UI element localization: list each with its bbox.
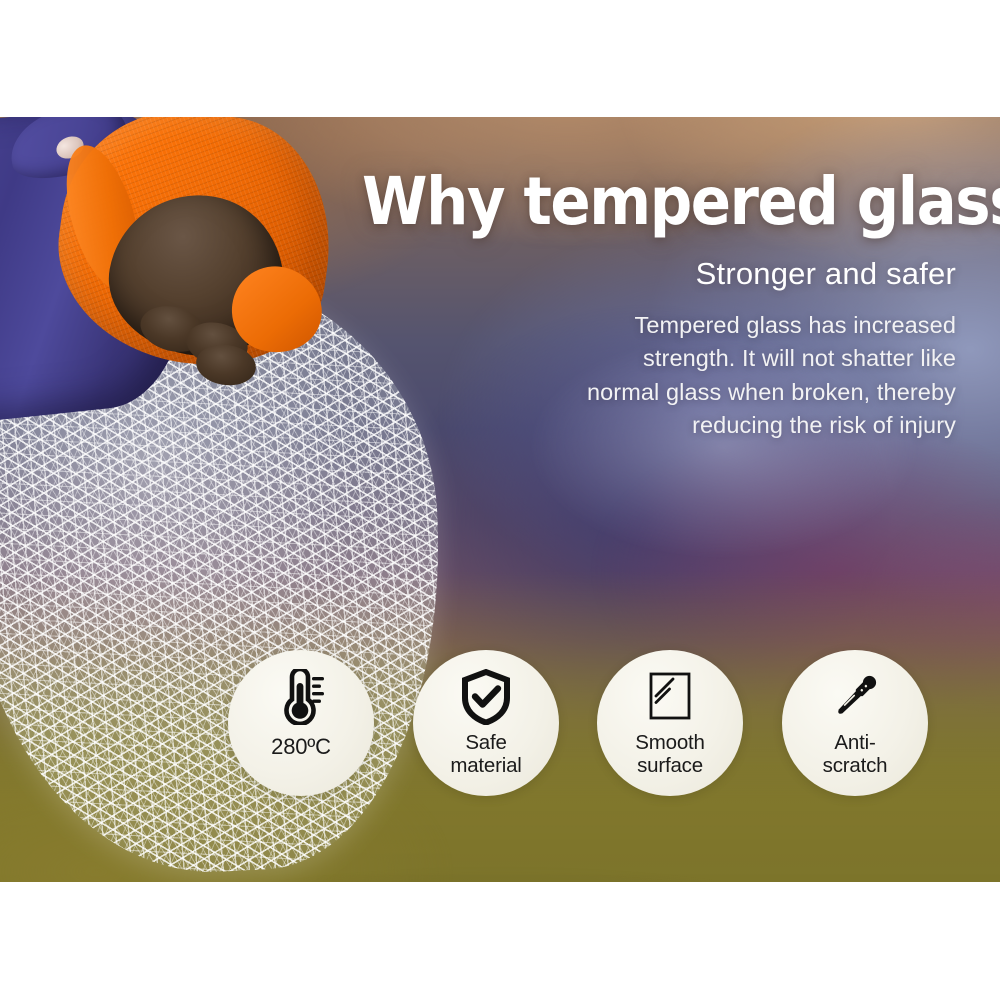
badge-label-line-1: Anti- — [834, 731, 875, 754]
feature-badge-anti-scratch: Anti- scratch — [782, 650, 928, 796]
badge-label-line-1: 280ºC — [271, 734, 331, 759]
body-line-3: normal glass when broken, thereby — [296, 376, 956, 409]
feature-badge-row: 280ºC Safe material — [0, 650, 1000, 825]
feature-badge-temperature: 280ºC — [228, 650, 374, 796]
product-photo-band: Why tempered glass? Stronger and safer T… — [0, 117, 1000, 882]
badge-label-line-2: material — [450, 754, 521, 777]
poster-canvas: Why tempered glass? Stronger and safer T… — [0, 0, 1000, 1000]
badge-label-line-2: surface — [635, 754, 704, 777]
page-title: Why tempered glass? — [362, 169, 956, 235]
subheading: Stronger and safer — [296, 257, 956, 291]
glass-pane-icon — [640, 668, 700, 726]
badge-label-line-1: Safe — [465, 731, 506, 754]
feature-badge-smooth-surface: Smooth surface — [597, 650, 743, 796]
marketing-text-block: Why tempered glass? Stronger and safer T… — [296, 169, 956, 443]
feature-badge-label: Safe material — [450, 731, 521, 777]
knife-icon — [825, 668, 885, 726]
shield-check-icon — [456, 668, 516, 726]
feature-badge-label: Anti- scratch — [823, 731, 888, 777]
body-line-4: reducing the risk of injury — [296, 409, 956, 442]
body-line-1: Tempered glass has increased — [296, 309, 956, 342]
badge-label-line-2: scratch — [823, 754, 888, 777]
feature-badge-safe-material: Safe material — [413, 650, 559, 796]
feature-badge-label: 280ºC — [271, 735, 331, 760]
body-copy: Tempered glass has increased strength. I… — [296, 309, 956, 442]
feature-badge-label: Smooth surface — [635, 731, 704, 777]
body-line-2: strength. It will not shatter like — [296, 342, 956, 375]
badge-label-line-1: Smooth — [635, 731, 704, 754]
thermometer-icon — [271, 668, 331, 726]
